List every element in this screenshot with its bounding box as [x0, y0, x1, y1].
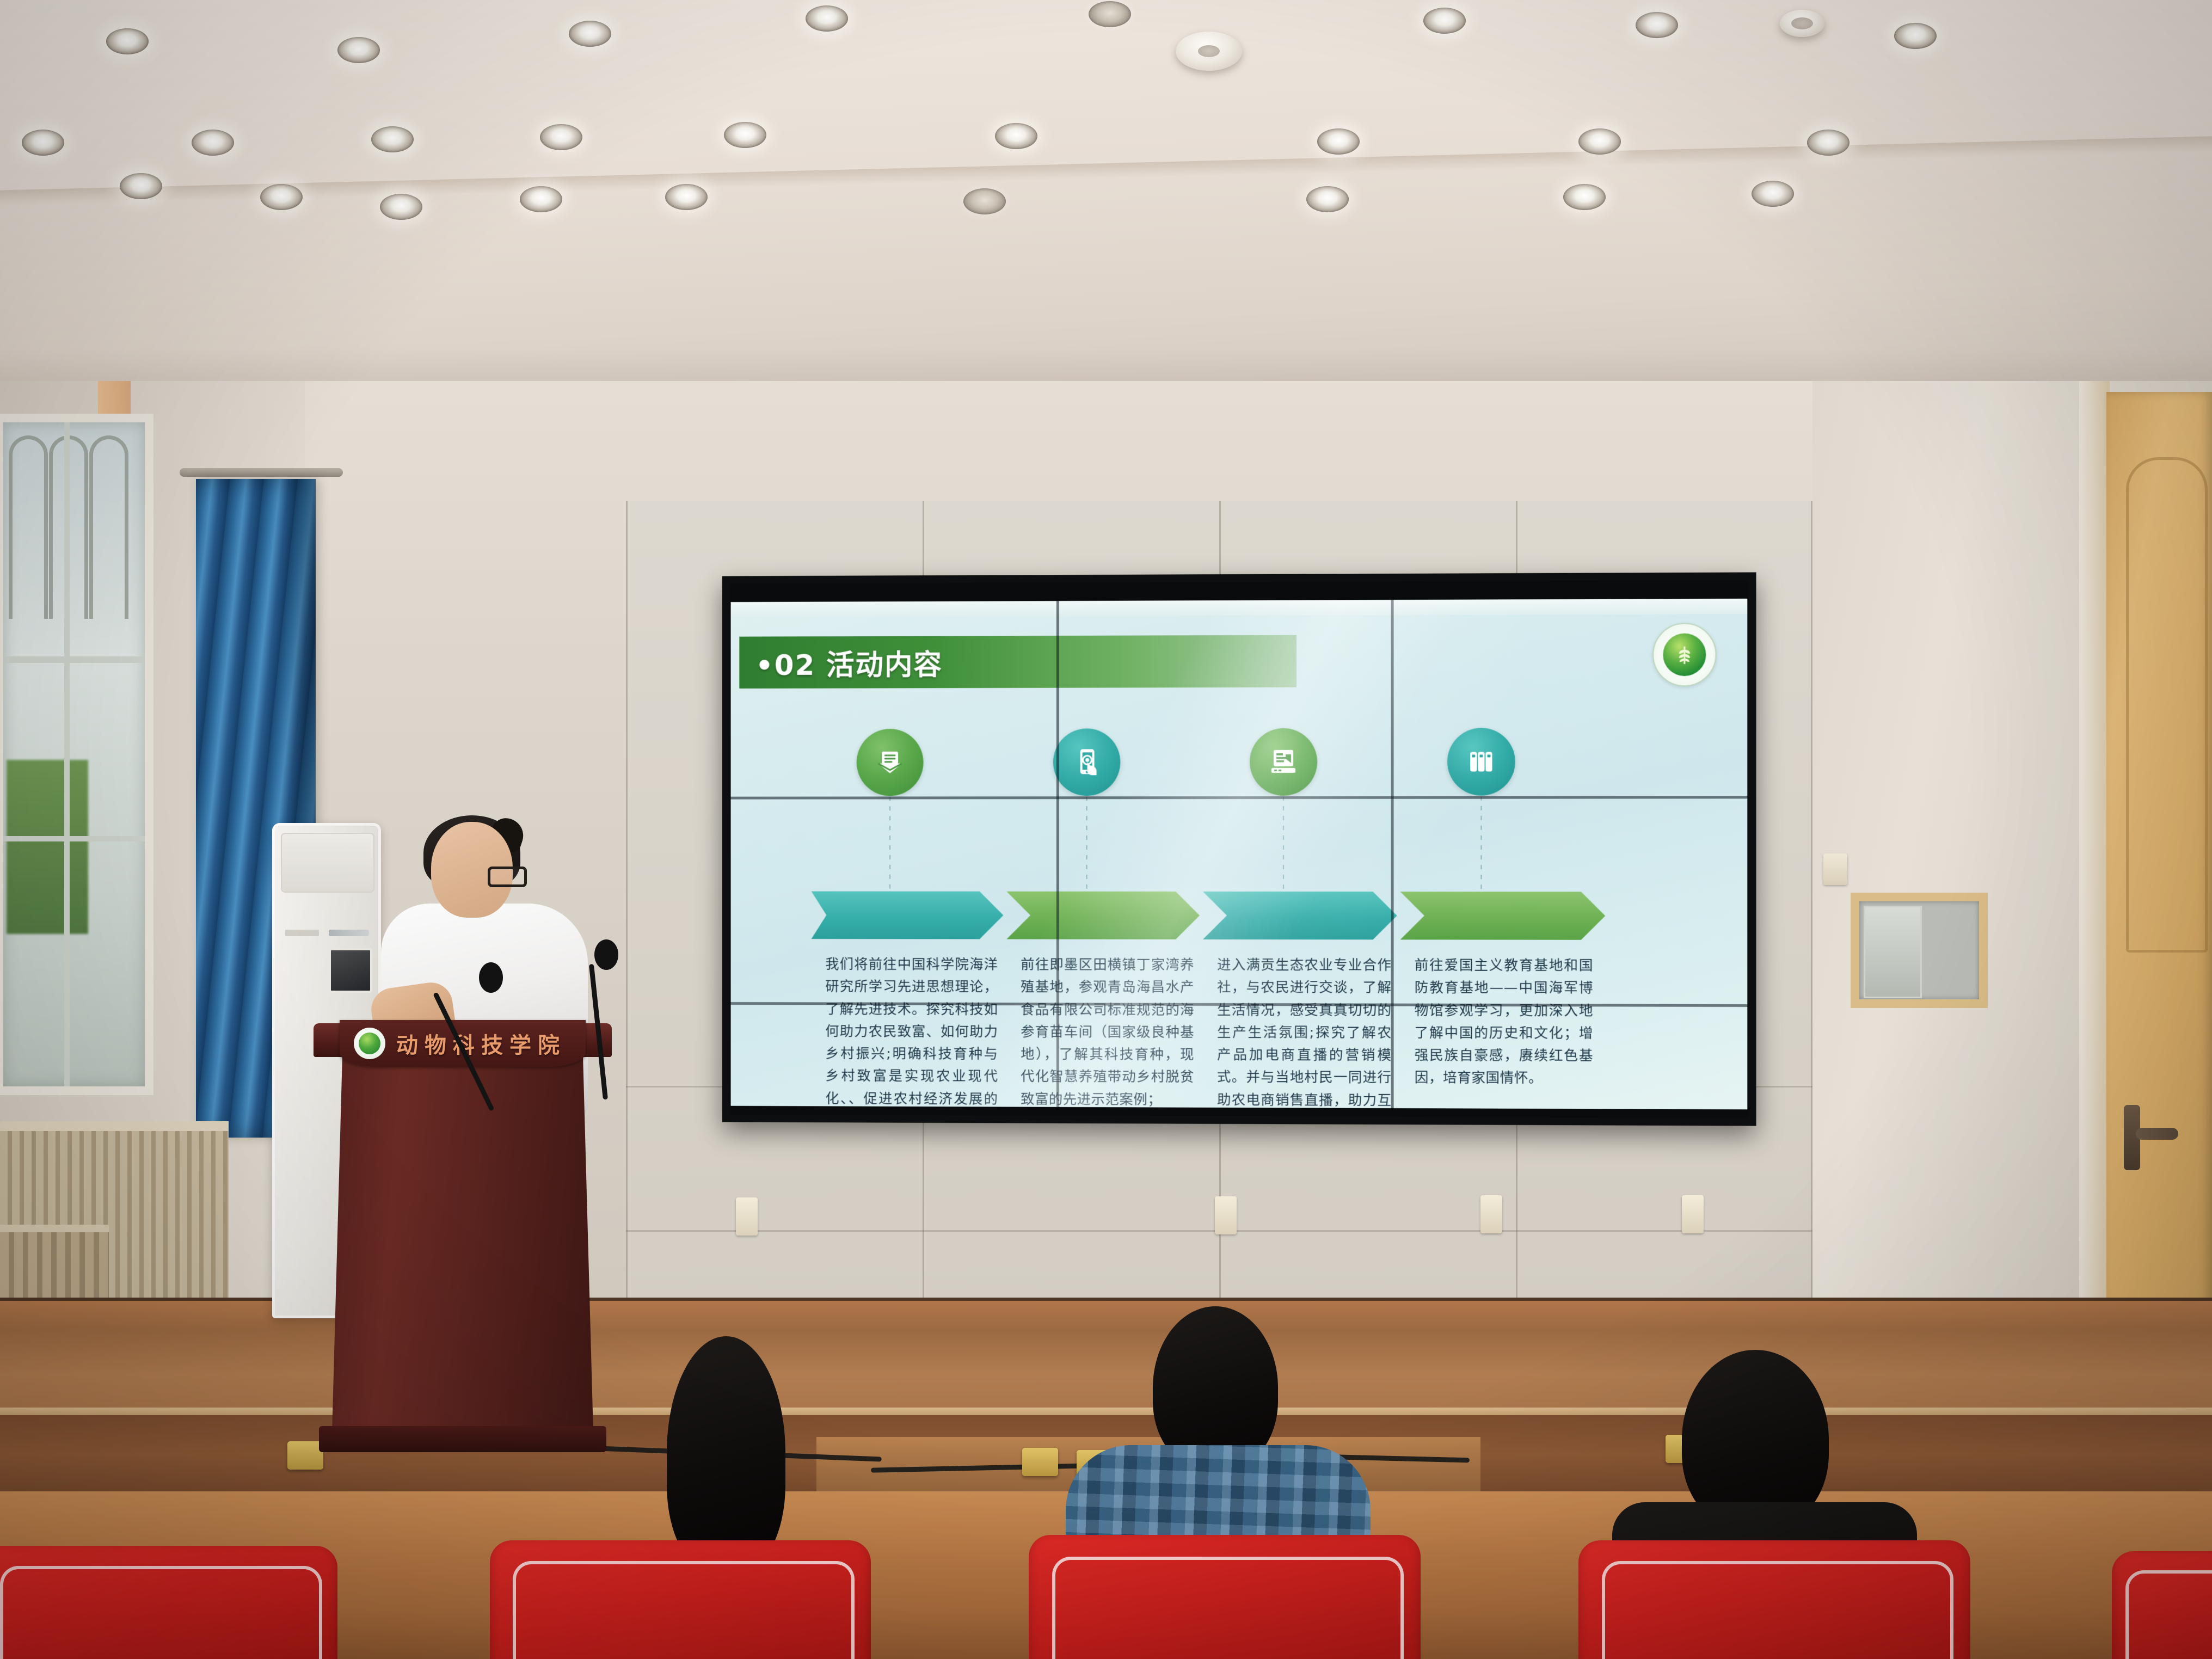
podium-front-face: [332, 1052, 593, 1433]
recessed-downlight: [260, 184, 303, 210]
step-description-4: 前往爱国主义教育基地和国防教育基地——中国海军博物馆参观学习，更加深入地了解中国…: [1415, 954, 1593, 1090]
window-mullion: [3, 836, 145, 841]
connector-dash-line: [1283, 796, 1284, 898]
recessed-downlight: [1894, 23, 1937, 49]
recessed-downlight: [1563, 184, 1606, 210]
recessed-downlight: [540, 124, 582, 150]
auditorium-seat[interactable]: [2112, 1551, 2212, 1659]
ac-display-panel[interactable]: [329, 948, 372, 993]
recessed-downlight: [22, 130, 64, 156]
recessed-downlight: [371, 126, 414, 152]
brass-floor-outlet: [1022, 1448, 1058, 1476]
recessed-downlight: [1089, 1, 1131, 27]
auditorium-seat[interactable]: [490, 1540, 871, 1659]
window-mullion: [3, 656, 145, 663]
recessed-downlight: [380, 194, 422, 220]
mail-envelope-icon: [857, 729, 924, 796]
curtain-rod: [180, 468, 343, 477]
recessed-downlight: [1578, 128, 1621, 155]
podium-base: [319, 1426, 606, 1452]
video-wall-seam: [1056, 601, 1059, 1107]
podium-emblem-logo: [354, 1028, 385, 1059]
window-mullion: [64, 422, 70, 1086]
slide-title-band: •02 活动内容: [739, 635, 1297, 689]
slide-top-strip: [731, 599, 1748, 617]
connector-dash-line: [1086, 796, 1087, 898]
ceiling-soffit: [0, 136, 2212, 205]
ac-model-label: [285, 930, 319, 936]
desktop-monitor-icon: [1250, 728, 1317, 796]
step-chevron: [1203, 892, 1397, 939]
step-description-3: 进入满贡生态农业专业合作社，与农民进行交谈，了解生活情况，感受真真切切的生产生活…: [1217, 954, 1392, 1109]
side-window: [0, 414, 153, 1095]
ceiling: [0, 0, 2212, 414]
recessed-downlight: [1306, 186, 1349, 212]
control-room-window: [1851, 893, 1988, 1008]
smoke-detector-icon: [1176, 32, 1242, 71]
audience-member: [667, 1336, 785, 1570]
podium-name-text: 动物科技学院: [396, 1028, 566, 1059]
recessed-downlight: [1423, 8, 1466, 34]
recessed-downlight: [520, 186, 562, 212]
wall-power-outlet: [1215, 1196, 1237, 1234]
recessed-downlight: [1636, 12, 1678, 38]
connector-dash-line: [889, 796, 890, 897]
window-foliage: [7, 760, 88, 934]
window-grille-arch: [9, 435, 48, 619]
recessed-downlight: [106, 28, 149, 54]
recessed-downlight: [806, 5, 848, 32]
lecture-hall-scene: •02 活动内容: [0, 0, 2212, 1659]
microphone-head: [594, 939, 618, 970]
ac-vent: [281, 833, 374, 893]
window-grille-arch: [89, 435, 128, 619]
auditorium-seat[interactable]: [0, 1546, 337, 1659]
books-archive-icon: [1447, 728, 1515, 796]
wall-power-outlet: [1682, 1195, 1704, 1233]
side-door[interactable]: [2106, 392, 2212, 1426]
brass-floor-outlet: [287, 1441, 323, 1470]
auditorium-seat[interactable]: [1578, 1540, 1970, 1659]
recessed-downlight: [1317, 128, 1360, 155]
recessed-downlight: [665, 184, 708, 210]
step-description-2: 前往即墨区田横镇丁家湾养殖基地，参观青岛海昌水产食品有限公司标准规范的海参育苗车…: [1021, 954, 1194, 1109]
recessed-downlight: [724, 122, 766, 148]
lectern-podium: 动物科技学院: [332, 1023, 593, 1464]
door-panel: [2126, 457, 2208, 953]
mobile-touch-icon: [1053, 728, 1120, 796]
step-chevron: [812, 892, 1004, 939]
recessed-downlight: [1752, 181, 1794, 207]
page-title: •02 活动内容: [755, 642, 943, 683]
door-handle[interactable]: [2124, 1105, 2140, 1170]
recessed-downlight: [963, 188, 1006, 214]
step-chevron: [1400, 892, 1606, 940]
step-icons-row: [731, 727, 1748, 837]
smoke-detector-icon: [1780, 10, 1824, 37]
wall-power-outlet: [736, 1197, 758, 1236]
recessed-downlight: [192, 130, 234, 156]
presentation-slide: •02 活动内容: [731, 599, 1748, 1109]
auditorium-seat[interactable]: [1029, 1535, 1421, 1659]
step-description-1: 我们将前往中国科学院海洋研究所学习先进思想理论，了解先进技术。探究科技如何助力农…: [825, 954, 998, 1109]
recessed-downlight: [995, 123, 1037, 149]
recessed-downlight: [569, 21, 611, 47]
glasses-icon: [488, 867, 527, 887]
recessed-downlight: [120, 173, 162, 199]
connector-dash-line: [1480, 796, 1482, 898]
wall-power-outlet: [1480, 1195, 1502, 1233]
recessed-downlight: [337, 37, 380, 63]
university-emblem-logo: [1652, 623, 1716, 686]
recessed-downlight: [1807, 130, 1850, 156]
door-jamb: [2079, 381, 2110, 1426]
microphone-head: [479, 962, 503, 993]
emblem-globe-icon: [1663, 633, 1706, 676]
light-switch[interactable]: [1823, 853, 1847, 885]
step-chevron: [1006, 892, 1200, 939]
lcd-video-wall[interactable]: •02 活动内容: [722, 572, 1756, 1126]
wall-panel-seam: [626, 501, 628, 1306]
ac-brand-label: [329, 930, 369, 936]
video-wall-seam: [1391, 600, 1394, 1108]
